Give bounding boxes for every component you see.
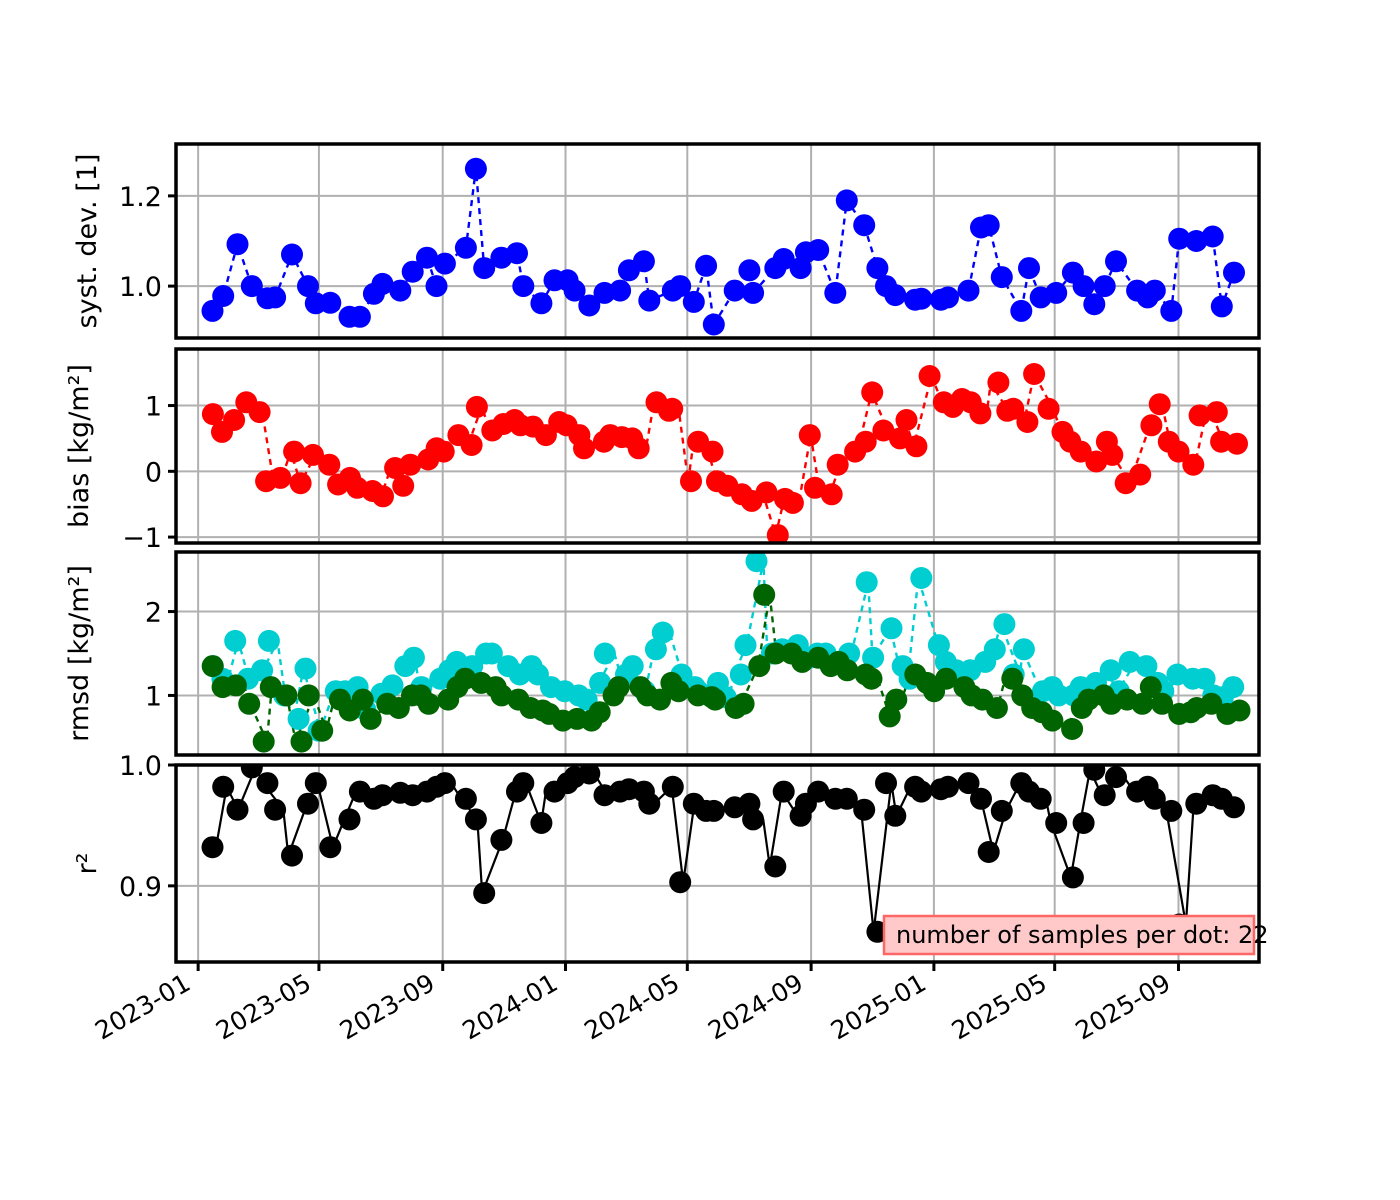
data-point	[455, 788, 477, 810]
data-point	[298, 684, 320, 706]
data-point	[628, 437, 650, 459]
data-point	[295, 658, 317, 680]
data-point	[958, 280, 980, 302]
panel-systematic-deviation: 1.01.2syst. dev. [1]	[72, 144, 1259, 338]
data-point	[984, 638, 1006, 660]
data-point	[680, 470, 702, 492]
data-point	[392, 475, 414, 497]
data-point	[853, 214, 875, 236]
data-point	[594, 643, 616, 665]
data-point	[991, 266, 1013, 288]
data-point	[861, 381, 883, 403]
data-point	[283, 441, 305, 463]
data-point	[291, 731, 313, 753]
data-point	[418, 693, 440, 715]
data-point	[1223, 262, 1245, 284]
x-tick-label: 2025-01	[826, 968, 931, 1045]
data-point	[661, 398, 683, 420]
data-point	[799, 424, 821, 446]
data-point	[227, 799, 249, 821]
data-point	[1018, 257, 1040, 279]
data-point	[506, 242, 528, 264]
data-point	[256, 772, 278, 794]
data-point	[970, 788, 992, 810]
data-point	[622, 655, 644, 677]
data-point	[1023, 363, 1045, 385]
data-point	[885, 689, 907, 711]
data-point	[339, 808, 361, 830]
data-point	[288, 708, 310, 730]
data-point	[1129, 464, 1151, 486]
data-point	[1073, 812, 1095, 834]
data-point	[434, 253, 456, 275]
data-point	[735, 634, 757, 656]
data-point	[225, 674, 247, 696]
data-point	[856, 571, 878, 593]
data-point	[1038, 398, 1060, 420]
y-tick-label: 0	[145, 457, 162, 488]
data-point	[281, 244, 303, 266]
data-point	[782, 492, 804, 514]
data-point	[318, 454, 340, 476]
y-tick-label: 2	[145, 598, 162, 629]
data-point	[426, 275, 448, 297]
x-tick-label: 2025-05	[947, 968, 1052, 1045]
data-point	[372, 485, 394, 507]
data-point	[910, 567, 932, 589]
data-point	[668, 680, 690, 702]
data-point	[1016, 411, 1038, 433]
data-point	[853, 799, 875, 821]
data-point	[202, 655, 224, 677]
data-point	[683, 291, 705, 313]
data-point	[638, 290, 660, 312]
x-tick-label: 2023-09	[335, 968, 440, 1045]
y-axis-label-systematic-deviation: syst. dev. [1]	[72, 154, 103, 329]
x-tick-label: 2023-05	[211, 968, 316, 1045]
data-point	[978, 841, 1000, 863]
data-point	[978, 214, 1000, 236]
data-point	[319, 292, 341, 314]
data-point	[821, 483, 843, 505]
data-point	[861, 668, 883, 690]
x-tick-label: 2025-09	[1071, 968, 1176, 1045]
data-point	[1062, 866, 1084, 888]
data-point	[1105, 250, 1127, 272]
data-point	[253, 731, 275, 753]
data-point	[530, 292, 552, 314]
y-tick-label: 1	[145, 681, 162, 712]
data-point	[986, 697, 1008, 719]
data-point	[433, 441, 455, 463]
data-point	[202, 836, 224, 858]
data-point	[896, 409, 918, 431]
data-point	[773, 781, 795, 803]
data-point	[704, 689, 726, 711]
data-point	[881, 617, 903, 639]
data-point	[512, 275, 534, 297]
panel-bias: −101bias [kg/m²]	[64, 349, 1259, 554]
data-point	[1202, 226, 1224, 248]
data-point	[352, 689, 374, 711]
data-point	[1160, 300, 1182, 322]
data-point	[249, 401, 271, 423]
data-point	[1101, 444, 1123, 466]
y-tick-label: 1.2	[119, 182, 162, 213]
data-point	[1045, 812, 1067, 834]
data-point	[264, 286, 286, 308]
chart-canvas: 1.01.2syst. dev. [1]−101bias [kg/m²]12rm…	[0, 0, 1400, 1200]
data-point	[638, 793, 660, 815]
y-tick-label: −1	[122, 523, 162, 554]
data-point	[609, 280, 631, 302]
data-point	[276, 684, 298, 706]
data-point	[1149, 393, 1171, 415]
data-point	[991, 800, 1013, 822]
y-axis-label-rmsd: rmsd [kg/m²]	[64, 565, 95, 742]
data-point	[434, 772, 456, 794]
data-point	[269, 467, 291, 489]
data-point	[662, 776, 684, 798]
data-point	[884, 284, 906, 306]
data-point	[919, 365, 941, 387]
data-point	[530, 812, 552, 834]
data-point	[1160, 800, 1182, 822]
data-point	[360, 708, 382, 730]
data-point	[1223, 796, 1245, 818]
timeseries-figure: 1.01.2syst. dev. [1]−101bias [kg/m²]12rm…	[0, 0, 1400, 1200]
data-point	[589, 701, 611, 723]
data-point	[937, 286, 959, 308]
data-point	[993, 613, 1015, 635]
data-point	[389, 280, 411, 302]
data-point	[608, 676, 630, 698]
data-point	[290, 472, 312, 494]
data-point	[875, 772, 897, 794]
data-point	[455, 237, 477, 259]
data-point	[297, 793, 319, 815]
y-tick-label: 0.9	[119, 872, 162, 903]
annotation-text: number of samples per dot: 22	[896, 921, 1269, 949]
data-point	[703, 314, 725, 336]
data-point	[311, 720, 333, 742]
x-tick-label: 2024-05	[579, 968, 684, 1045]
data-point	[1144, 280, 1166, 302]
data-point	[703, 800, 725, 822]
y-tick-label: 1.0	[119, 751, 162, 782]
data-point	[884, 805, 906, 827]
data-point	[1140, 414, 1162, 436]
data-point	[1094, 275, 1116, 297]
data-point	[836, 659, 858, 681]
data-point	[969, 402, 991, 424]
x-axis: 2023-012023-052023-092024-012024-052024-…	[90, 962, 1178, 1045]
data-point	[1229, 700, 1251, 722]
data-point	[238, 693, 260, 715]
data-point	[1094, 784, 1116, 806]
data-point	[461, 434, 483, 456]
data-point	[633, 250, 655, 272]
x-tick-label: 2024-01	[458, 968, 563, 1045]
data-point	[807, 239, 829, 261]
data-point	[473, 882, 495, 904]
data-point	[1206, 401, 1228, 423]
data-point	[733, 693, 755, 715]
data-point	[281, 845, 303, 867]
data-point	[987, 372, 1009, 394]
data-point	[764, 856, 786, 878]
data-point	[403, 647, 425, 669]
data-point	[212, 776, 234, 798]
data-point	[1100, 659, 1122, 681]
panel-frame	[176, 552, 1259, 755]
data-point	[1010, 300, 1032, 322]
data-point	[490, 829, 512, 851]
data-point	[465, 158, 487, 180]
data-point	[652, 622, 674, 644]
x-tick-label: 2023-01	[90, 968, 195, 1045]
data-point	[1041, 710, 1063, 732]
data-point	[305, 772, 327, 794]
y-tick-label: 1.0	[119, 272, 162, 303]
y-tick-label: 1	[145, 392, 162, 423]
data-point	[1226, 433, 1248, 455]
x-tick-label: 2024-09	[703, 968, 808, 1045]
data-point	[1013, 638, 1035, 660]
panel-rmsd: 12rmsd [kg/m²]	[64, 550, 1259, 755]
data-point	[836, 189, 858, 211]
data-point	[258, 630, 280, 652]
data-point	[1083, 759, 1105, 781]
data-point	[669, 871, 691, 893]
data-point	[695, 255, 717, 277]
data-point	[910, 781, 932, 803]
y-axis-label-r-squared: r²	[72, 853, 103, 875]
data-point	[702, 441, 724, 463]
data-point	[824, 282, 846, 304]
data-point	[224, 630, 246, 652]
data-point	[319, 836, 341, 858]
data-point	[1182, 454, 1204, 476]
data-point	[573, 437, 595, 459]
data-point	[212, 285, 234, 307]
samples-annotation: number of samples per dot: 22	[884, 916, 1269, 954]
data-point	[738, 259, 760, 281]
data-point	[1211, 295, 1233, 317]
data-point	[742, 282, 764, 304]
data-point	[827, 454, 849, 476]
data-point	[349, 306, 371, 328]
data-point	[910, 288, 932, 310]
data-point	[512, 772, 534, 794]
data-point	[241, 756, 263, 778]
data-point	[264, 799, 286, 821]
data-point	[465, 808, 487, 830]
data-point	[742, 808, 764, 830]
data-point	[905, 435, 927, 457]
data-point	[1105, 766, 1127, 788]
data-point	[466, 396, 488, 418]
y-axis-label-bias: bias [kg/m²]	[64, 364, 95, 528]
data-point	[753, 584, 775, 606]
data-point	[227, 233, 249, 255]
data-point	[1045, 282, 1067, 304]
data-point	[1061, 718, 1083, 740]
data-point	[937, 776, 959, 798]
data-point	[1222, 676, 1244, 698]
data-point	[1030, 788, 1052, 810]
